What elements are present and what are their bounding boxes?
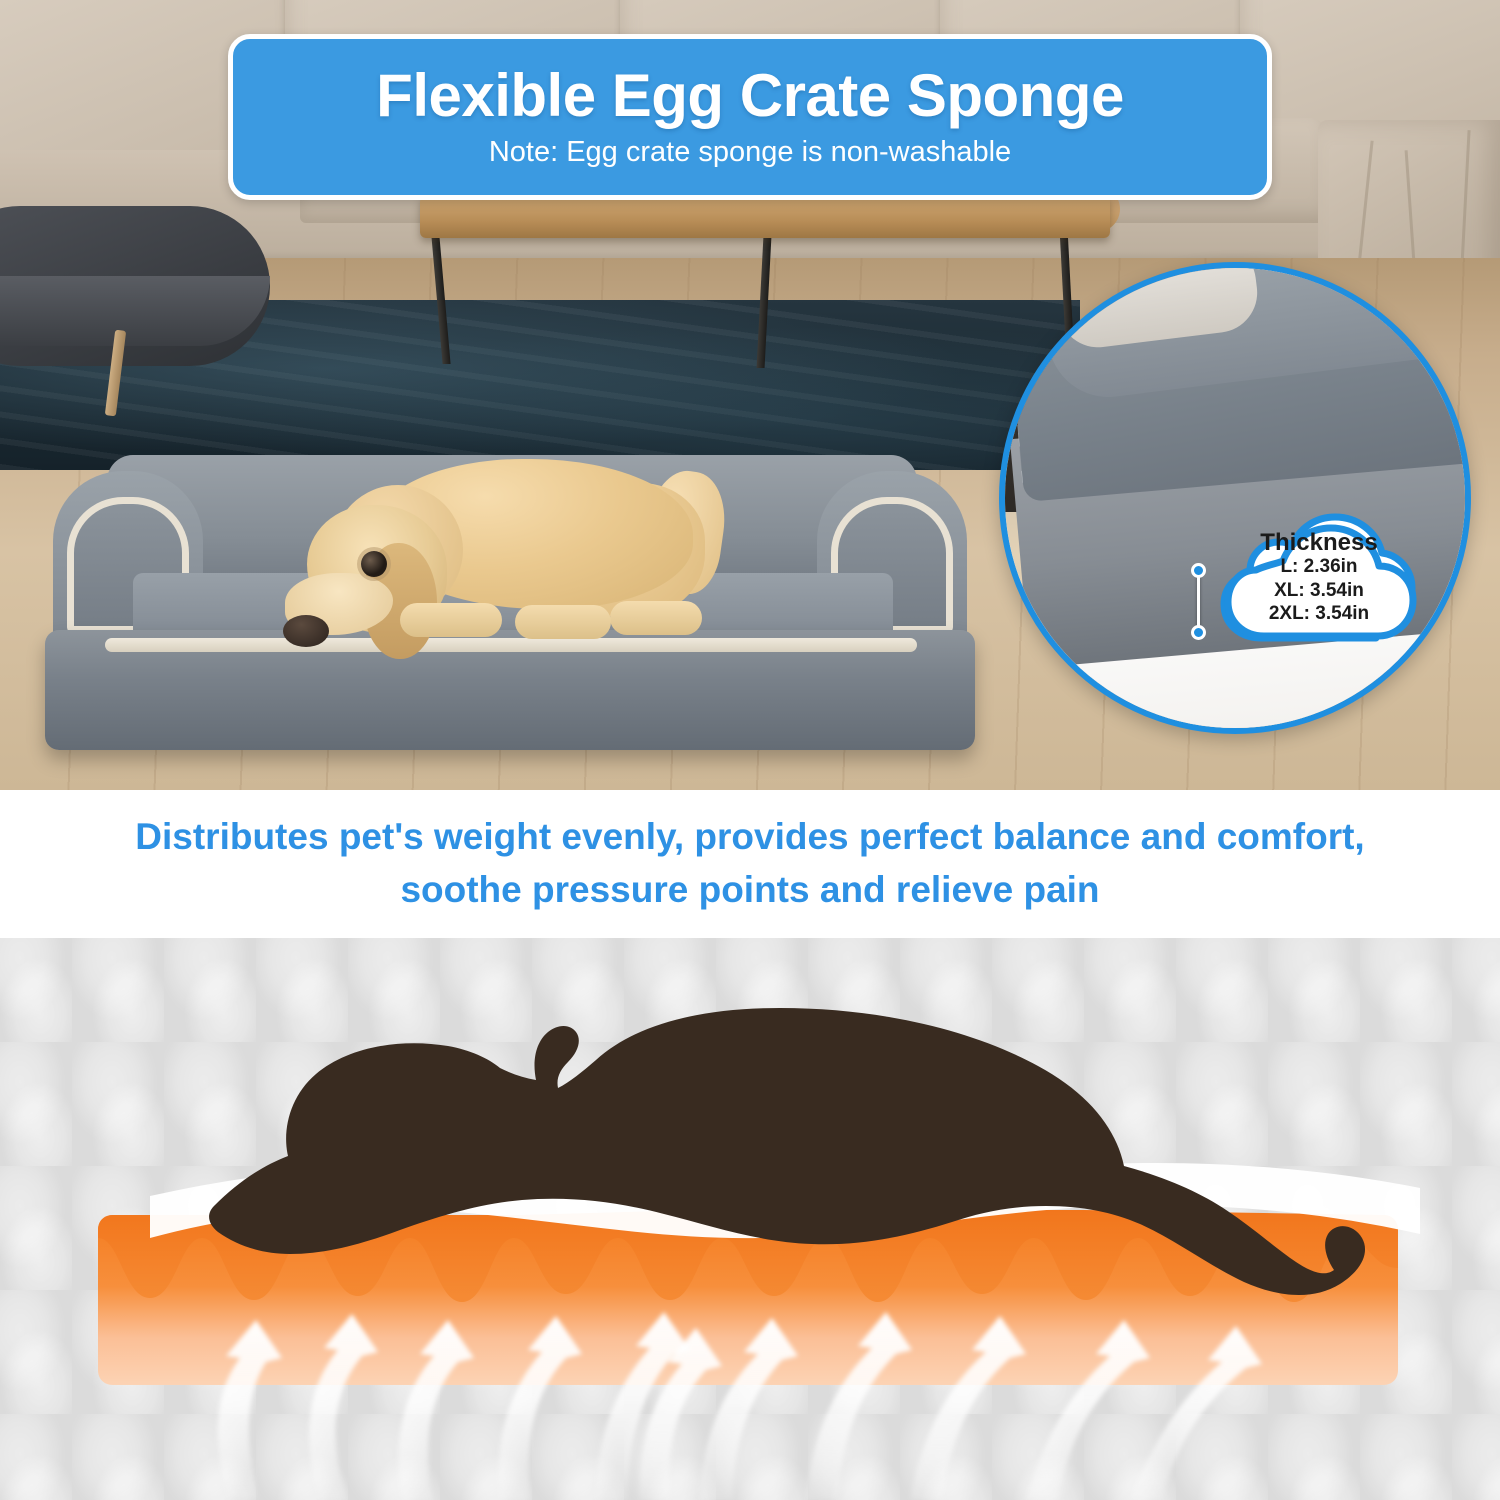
foam-closeup-inset (999, 262, 1471, 734)
banner-note: Note: Egg crate sponge is non-washable (489, 136, 1011, 169)
coffee-table-edge (420, 196, 1110, 238)
armchair-rim (0, 276, 270, 346)
caption-line-2: soothe pressure points and relieve pain (400, 864, 1099, 917)
room-scene-photo: Flexible Egg Crate Sponge Note: Egg crat… (0, 0, 1500, 790)
banner-title: Flexible Egg Crate Sponge (376, 65, 1124, 126)
dog-paw (610, 601, 702, 635)
thickness-callout-bubble: Thickness L: 2.36in XL: 3.54in 2XL: 3.54… (1216, 512, 1422, 644)
dog-nose (283, 615, 329, 647)
header-banner: Flexible Egg Crate Sponge Note: Egg crat… (228, 34, 1272, 200)
dog-paw (515, 605, 611, 639)
caption-line-1: Distributes pet's weight evenly, provide… (135, 811, 1364, 864)
dog-front-paw (400, 603, 502, 637)
golden-retriever-dog (255, 455, 725, 680)
caption-band: Distributes pet's weight evenly, provide… (0, 790, 1500, 938)
pressure-relief-diagram (0, 938, 1500, 1500)
thickness-title: Thickness (1260, 530, 1377, 555)
thickness-dimension-dot-bottom (1191, 625, 1206, 640)
foam-cross-section (0, 938, 1500, 1500)
thickness-row-xl: XL: 3.54in (1274, 579, 1364, 603)
product-infographic: Flexible Egg Crate Sponge Note: Egg crat… (0, 0, 1500, 1500)
thickness-row-2xl: 2XL: 3.54in (1269, 602, 1369, 626)
thickness-row-l: L: 2.36in (1280, 555, 1357, 579)
thickness-dimension-dot-top (1191, 563, 1206, 578)
thickness-callout-text: Thickness L: 2.36in XL: 3.54in 2XL: 3.54… (1216, 512, 1422, 644)
dog-eye (361, 551, 387, 577)
